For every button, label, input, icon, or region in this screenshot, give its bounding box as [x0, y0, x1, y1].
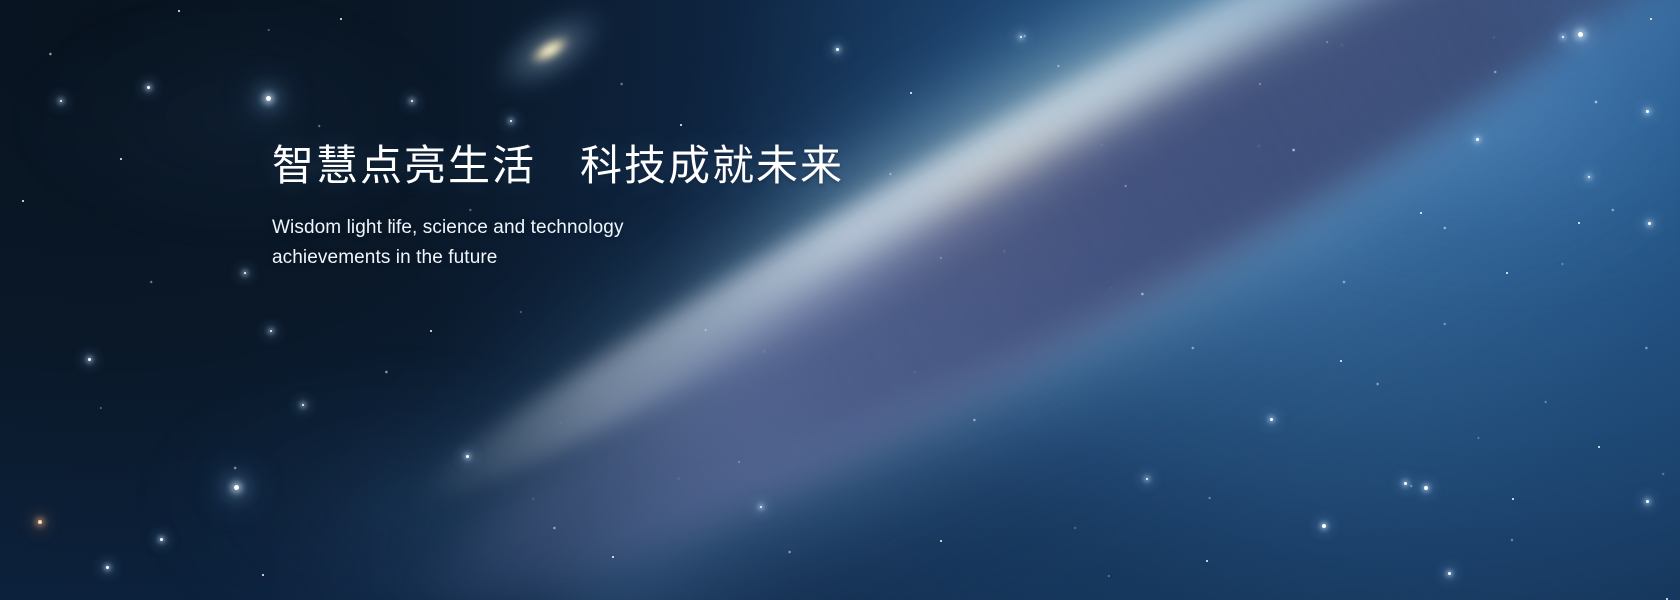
- star-icon: [178, 10, 180, 12]
- star-icon: [1646, 500, 1649, 503]
- hero-banner: 智慧点亮生活 科技成就未来 Wisdom light life, science…: [0, 0, 1680, 600]
- star-icon: [120, 158, 122, 160]
- star-icon: [340, 18, 342, 20]
- banner-subtitle-line-2: achievements in the future: [272, 243, 672, 273]
- banner-subtitle-line-1: Wisdom light life, science and technolog…: [272, 213, 672, 243]
- star-icon: [88, 358, 91, 361]
- page-title: 智慧点亮生活 科技成就未来: [272, 142, 844, 191]
- banner-text-block: 智慧点亮生活 科技成就未来 Wisdom light life, science…: [272, 142, 844, 273]
- star-icon: [38, 520, 42, 524]
- star-icon: [147, 86, 150, 89]
- star-icon: [1448, 572, 1451, 575]
- star-icon: [266, 96, 271, 101]
- star-icon: [160, 538, 163, 541]
- star-icon: [106, 566, 109, 569]
- star-icon: [1512, 498, 1514, 500]
- spiral-galaxy: [63, 0, 1680, 600]
- star-icon: [22, 200, 24, 202]
- banner-subtitle: Wisdom light life, science and technolog…: [272, 191, 672, 273]
- star-icon: [60, 100, 62, 102]
